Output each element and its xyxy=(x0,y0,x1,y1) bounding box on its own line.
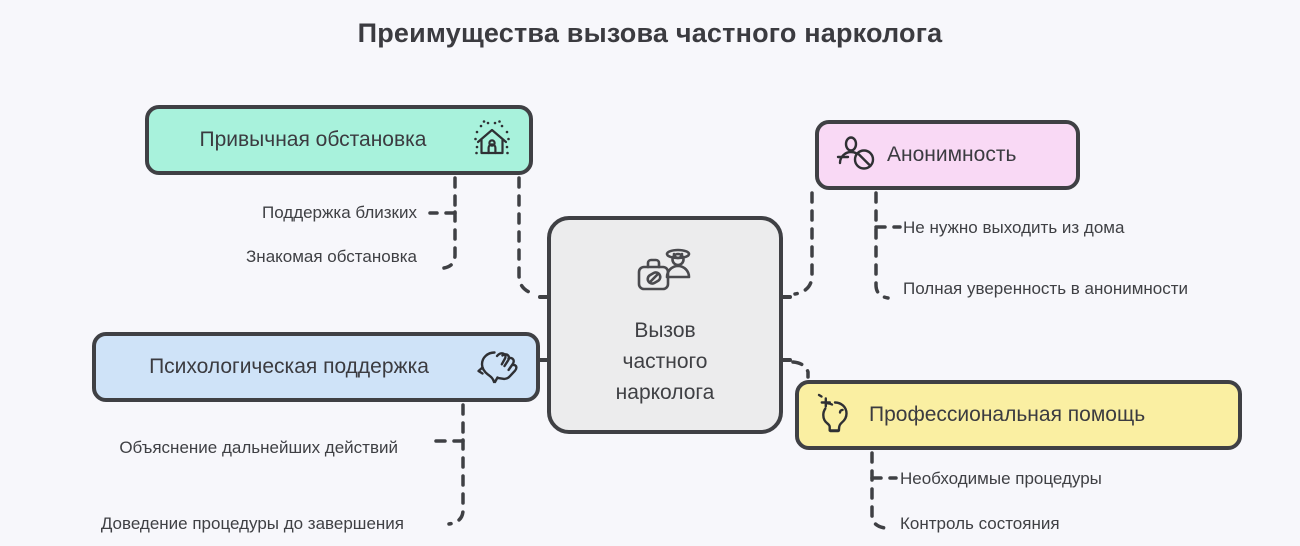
wire-blue-children xyxy=(449,405,463,524)
branch-label-blue: Психологическая поддержка xyxy=(112,355,466,379)
branch-node-blue[interactable]: Психологическая поддержка xyxy=(92,332,540,402)
person-no-entry-icon xyxy=(835,135,877,175)
central-node[interactable]: Вызов частного нарколога xyxy=(547,216,783,434)
leaf-blue-2: Доведение процедуры до завершения xyxy=(101,514,404,534)
wire-yellow-to-center xyxy=(793,362,808,377)
branch-node-yellow[interactable]: Профессиональная помощь xyxy=(795,380,1242,450)
branch-label-pink: Анонимность xyxy=(887,143,1016,167)
wire-green-children xyxy=(444,178,455,268)
wire-yellow-children xyxy=(872,453,885,528)
leaf-yellow-1: Необходимые процедуры xyxy=(900,469,1102,489)
wire-pink-children xyxy=(876,193,888,298)
head-medical-cross-icon xyxy=(815,393,859,437)
leaf-blue-1: Объяснение дальнейших действий xyxy=(119,438,398,458)
wire-green-to-center xyxy=(519,178,536,294)
mindmap-canvas: Преимущества вызова частного нарколога xyxy=(0,0,1300,546)
wire-pink-to-center xyxy=(795,193,812,294)
doctor-medical-bag-icon xyxy=(631,243,699,299)
leaf-pink-2: Полная уверенность в анонимности xyxy=(903,279,1188,299)
leaf-green-2: Знакомая обстановка xyxy=(246,247,417,267)
leaf-green-1: Поддержка близких xyxy=(262,203,417,223)
leaf-yellow-2: Контроль состояния xyxy=(900,514,1060,534)
leaf-pink-1: Не нужно выходить из дома xyxy=(903,218,1124,238)
branch-node-pink[interactable]: Анонимность xyxy=(815,120,1080,190)
central-node-label: Вызов частного нарколога xyxy=(616,315,715,408)
branch-label-green: Привычная обстановка xyxy=(165,128,461,152)
home-with-person-icon xyxy=(471,119,513,161)
head-handshake-support-icon xyxy=(476,346,520,388)
branch-node-green[interactable]: Привычная обстановка xyxy=(145,105,533,175)
branch-label-yellow: Профессиональная помощь xyxy=(869,403,1145,427)
